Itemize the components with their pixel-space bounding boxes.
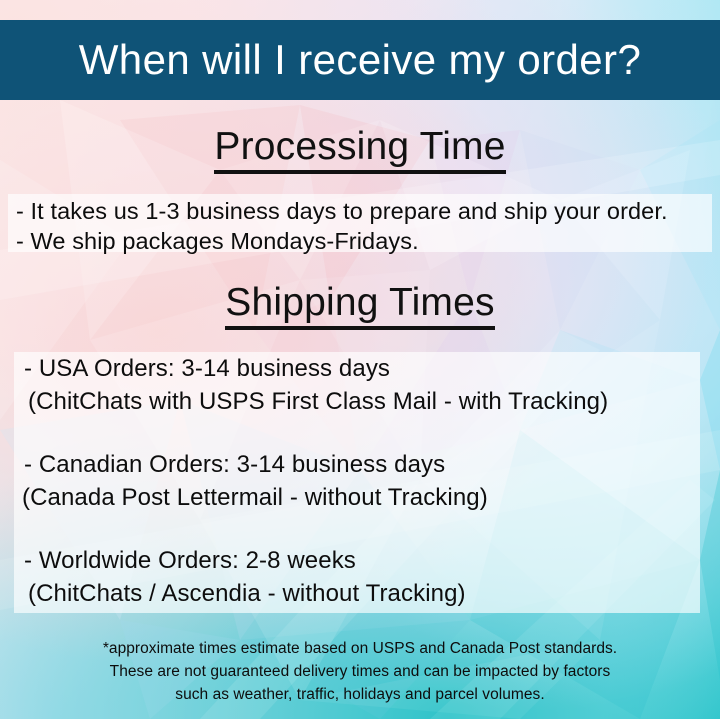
poster-graphic: When will I receive my order? Processing… (0, 0, 720, 719)
canadian-orders-title: - Canadian Orders: 3-14 business days (24, 453, 445, 477)
processing-line-2: - We ship packages Mondays-Fridays. (16, 230, 419, 254)
disclaimer-line-1: *approximate times estimate based on USP… (0, 637, 720, 660)
disclaimer-line-2: These are not guaranteed delivery times … (0, 660, 720, 683)
processing-time-heading: Processing Time (0, 127, 720, 174)
disclaimer-note: *approximate times estimate based on USP… (0, 637, 720, 706)
disclaimer-line-3: such as weather, traffic, holidays and p… (0, 683, 720, 706)
processing-line-1: - It takes us 1-3 business days to prepa… (16, 200, 668, 224)
processing-time-heading-text: Processing Time (214, 127, 505, 174)
shipping-times-heading-text: Shipping Times (225, 283, 494, 330)
canadian-orders-detail: (Canada Post Lettermail - without Tracki… (22, 486, 488, 510)
shipping-times-heading: Shipping Times (0, 283, 720, 330)
worldwide-orders-title: - Worldwide Orders: 2-8 weeks (24, 549, 356, 573)
usa-orders-detail: (ChitChats with USPS First Class Mail - … (28, 390, 608, 414)
poster-content: Processing Time - It takes us 1-3 busine… (0, 0, 720, 719)
worldwide-orders-detail: (ChitChats / Ascendia - without Tracking… (28, 582, 466, 606)
usa-orders-title: - USA Orders: 3-14 business days (24, 357, 390, 381)
